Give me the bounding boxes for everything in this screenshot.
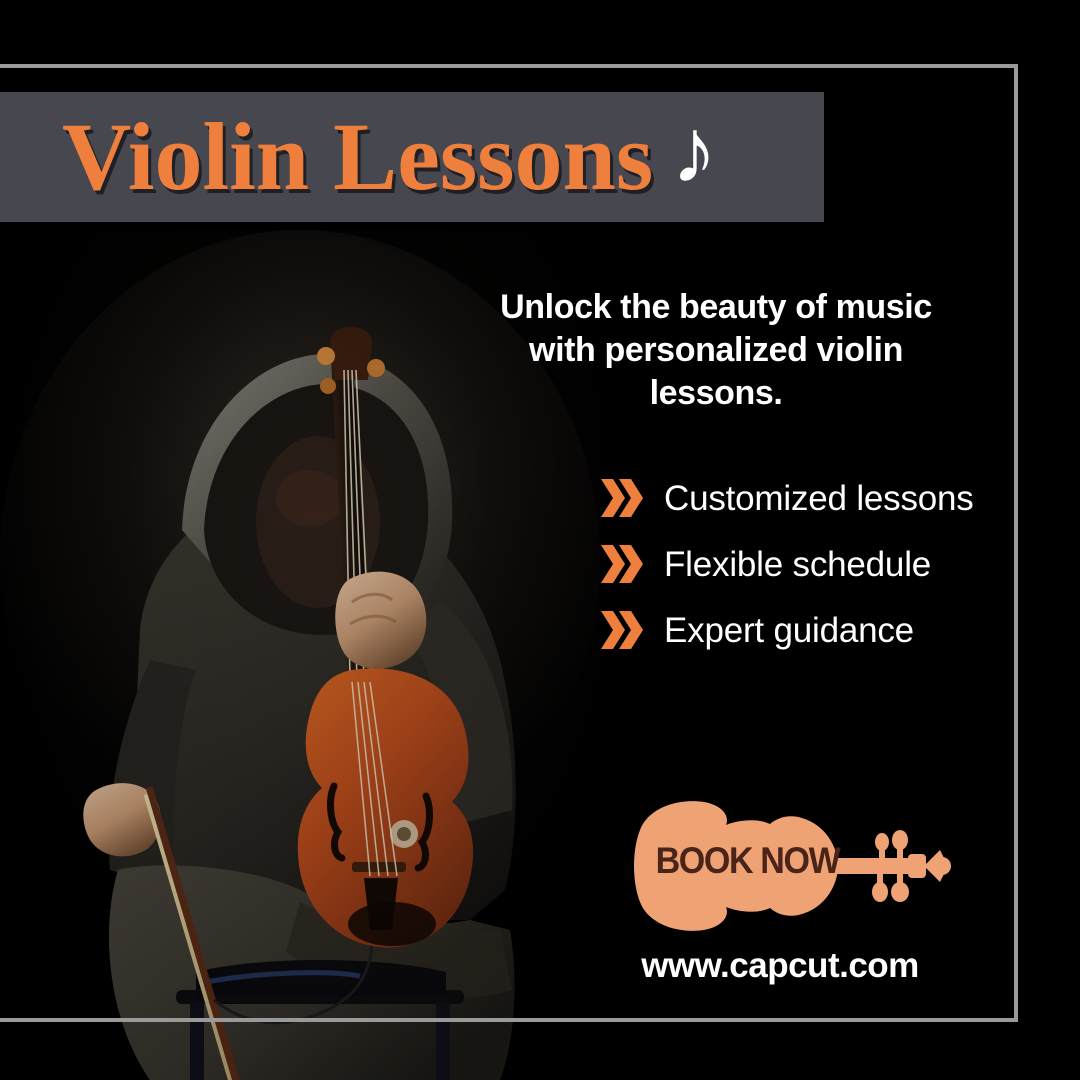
double-chevron-right-icon	[600, 544, 644, 584]
list-item: Flexible schedule	[600, 532, 1020, 596]
double-chevron-right-icon	[600, 478, 644, 518]
list-item-label: Customized lessons	[664, 481, 974, 516]
poster-canvas: Violin Lessons ♪ Unlock the beauty of mu…	[0, 0, 1080, 1080]
page-title: Violin Lessons	[62, 109, 653, 205]
title-banner: Violin Lessons ♪	[0, 92, 824, 222]
music-note-icon: ♪	[671, 105, 717, 197]
violin-icon	[612, 792, 962, 940]
book-now-button[interactable]: BOOK NOW	[612, 792, 962, 940]
headline-text: Unlock the beauty of music with personal…	[470, 286, 962, 414]
list-item: Expert guidance	[600, 598, 1020, 662]
double-chevron-right-icon	[600, 610, 644, 650]
feature-list: Customized lessons Flexible schedule Exp…	[600, 466, 1020, 664]
list-item: Customized lessons	[600, 466, 1020, 530]
list-item-label: Flexible schedule	[664, 547, 931, 582]
website-url[interactable]: www.capcut.com	[600, 948, 960, 983]
list-item-label: Expert guidance	[664, 613, 914, 648]
